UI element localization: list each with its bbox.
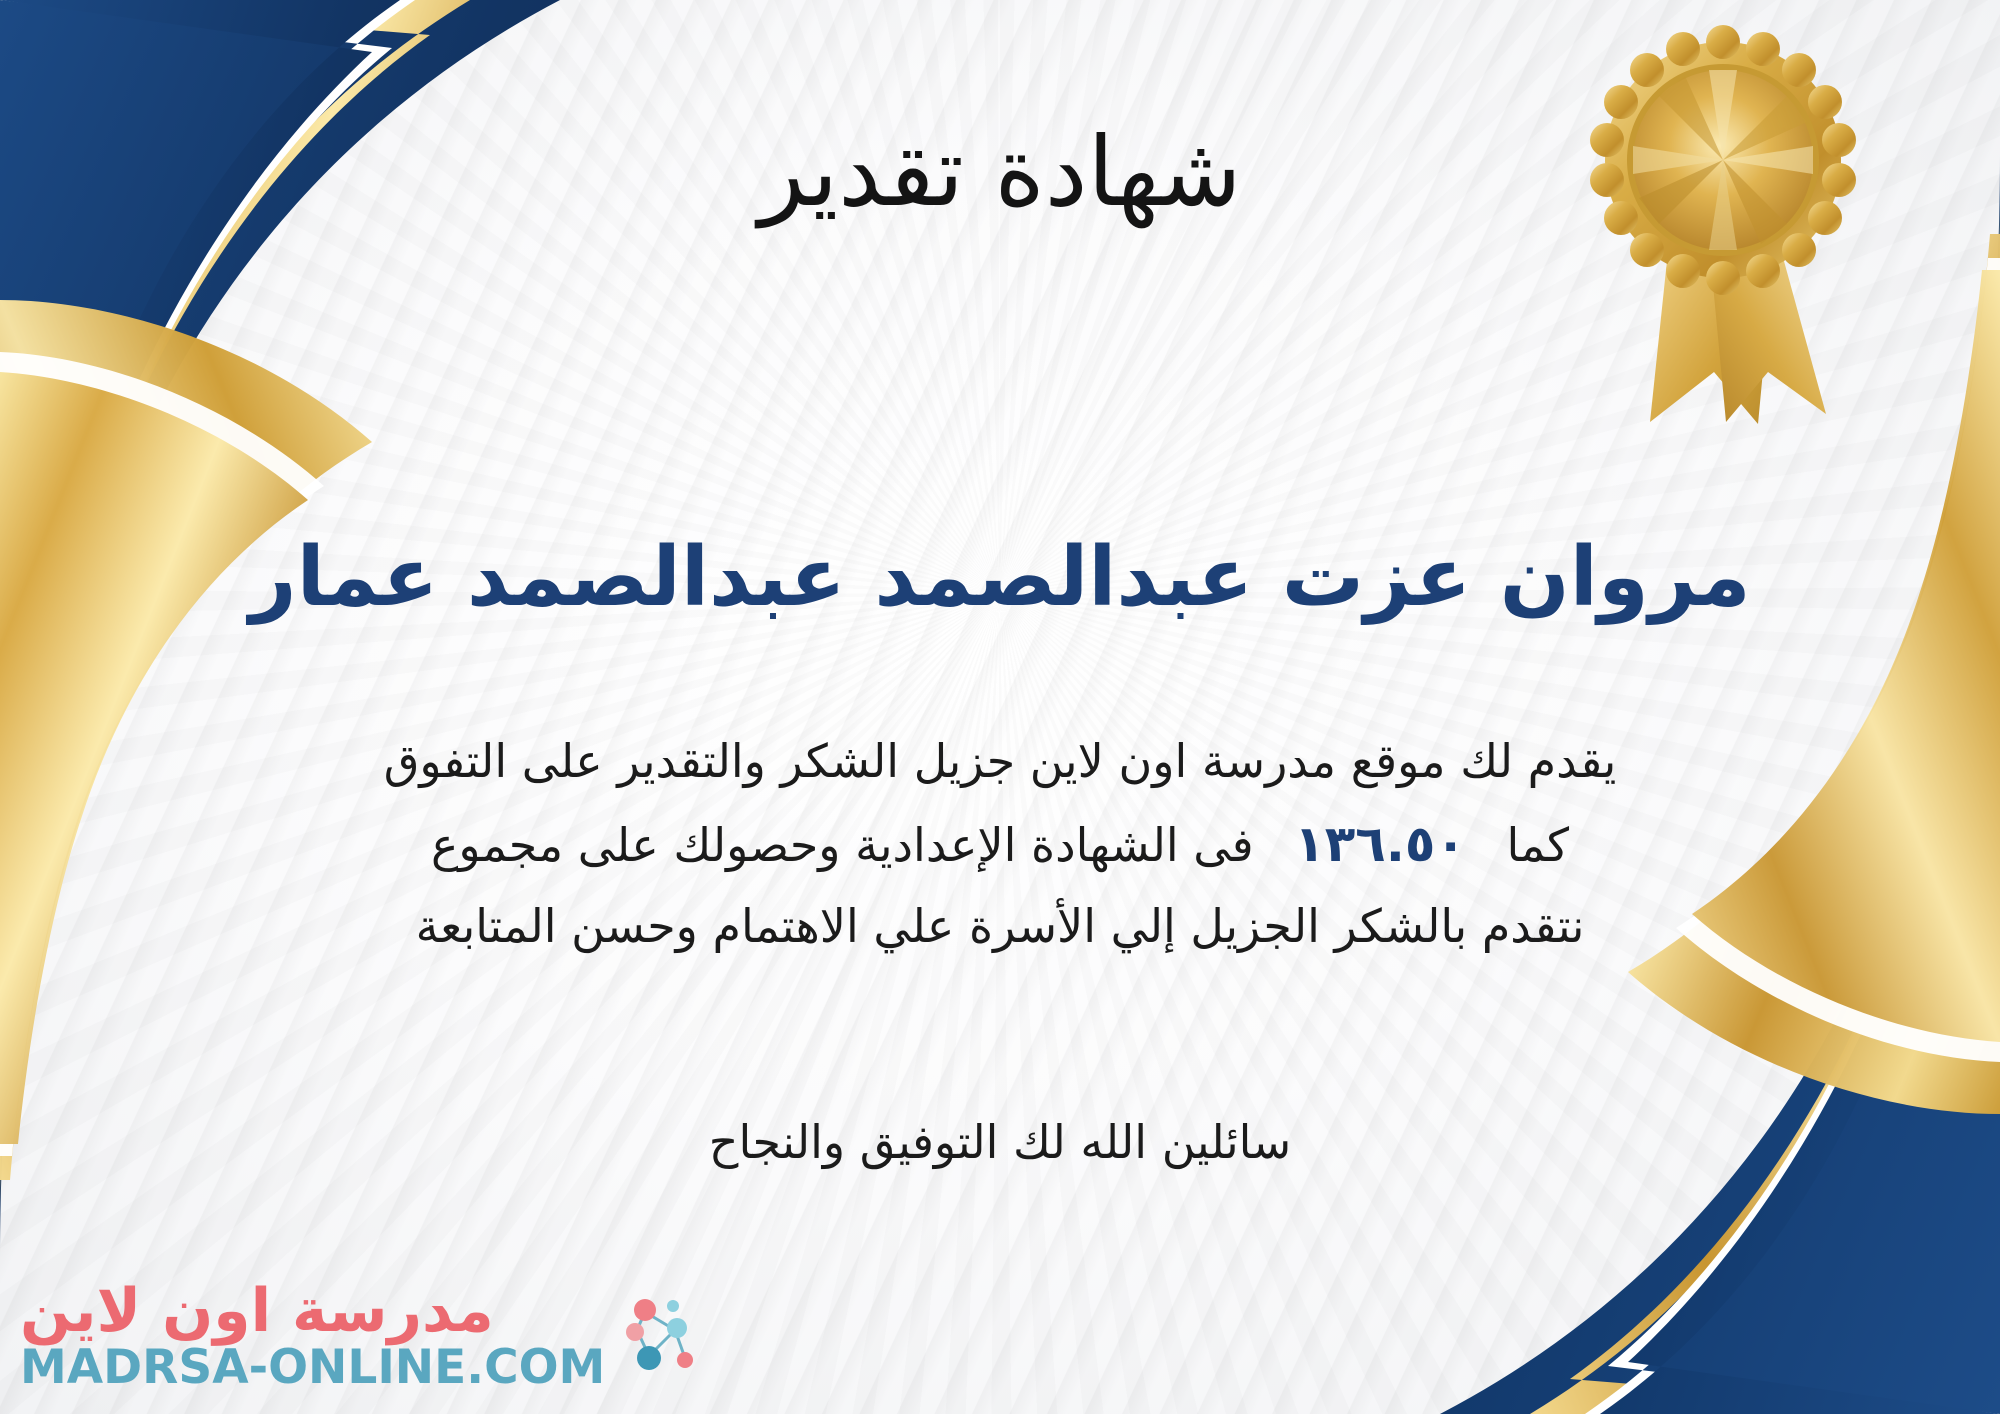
network-nodes-icon xyxy=(615,1290,701,1382)
grade-value: ١٣٦.٥٠ xyxy=(1268,815,1492,873)
student-name: مروان عزت عبدالصمد عبدالصمد عمار xyxy=(0,525,2000,632)
page-title: شهادة تقدير xyxy=(0,112,2000,232)
body-line-3: نتقدم بالشكر الجزيل إلي الأسرة علي الاهت… xyxy=(120,887,1880,966)
logo-text-block: مدرسة اون لاين MADRSA-ONLINE.COM xyxy=(20,1280,605,1392)
closing-line: سائلين الله لك التوفيق والنجاح xyxy=(0,1115,2000,1169)
body-line-2: كما ١٣٦.٥٠ فى الشهادة الإعدادية وحصولك ع… xyxy=(120,801,1880,887)
site-logo[interactable]: مدرسة اون لاين MADRSA-ONLINE.COM xyxy=(20,1280,701,1392)
logo-arabic-name: مدرسة اون لاين xyxy=(20,1280,494,1343)
body-line-2-prefix: فى الشهادة الإعدادية وحصولك على مجموع xyxy=(431,818,1254,872)
body-line-2-suffix: كما xyxy=(1506,818,1569,872)
certificate-page: شهادة تقدير مروان عزت عبدالصمد عبدالصمد … xyxy=(0,0,2000,1414)
certificate-body: يقدم لك موقع مدرسة اون لاين جزيل الشكر و… xyxy=(120,722,1880,966)
logo-website: MADRSA-ONLINE.COM xyxy=(20,1343,605,1392)
body-line-1: يقدم لك موقع مدرسة اون لاين جزيل الشكر و… xyxy=(120,722,1880,801)
